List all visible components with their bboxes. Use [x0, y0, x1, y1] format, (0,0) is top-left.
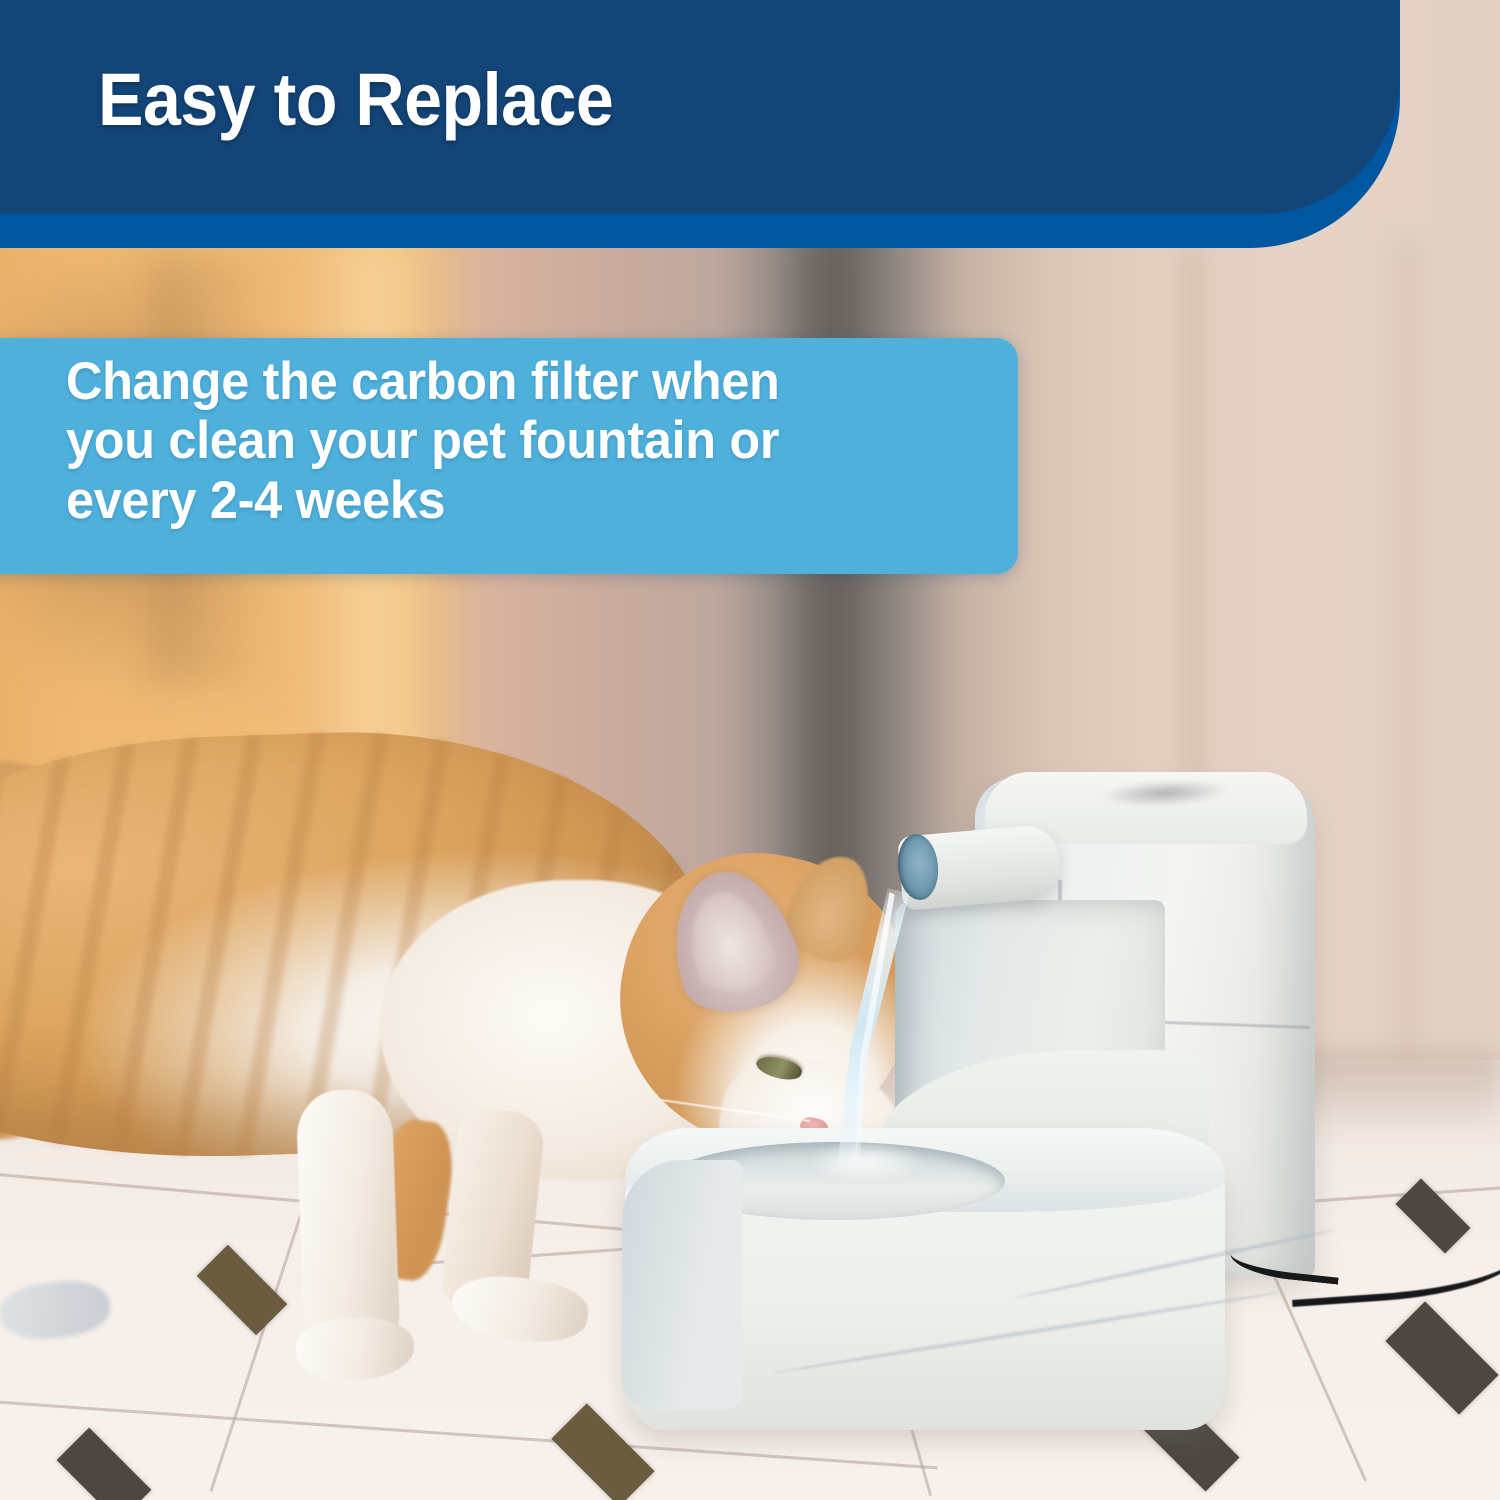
callout-line-1: Change the carbon filter when [66, 352, 978, 411]
water-splash [806, 1140, 926, 1184]
cat-front-leg [295, 1088, 400, 1351]
background-panel-edge-2 [1395, 240, 1421, 1060]
callout-line-2: you clean your pet fountain or [66, 411, 978, 470]
page-title: Easy to Replace [98, 62, 926, 137]
fountain-bowl-left-wall [622, 1160, 742, 1410]
callout-message: Change the carbon filter when you clean … [66, 352, 978, 530]
marketing-banner: Easy to Replace Change the carbon filter… [0, 0, 1500, 1500]
callout-line-3: every 2-4 weeks [66, 471, 978, 530]
